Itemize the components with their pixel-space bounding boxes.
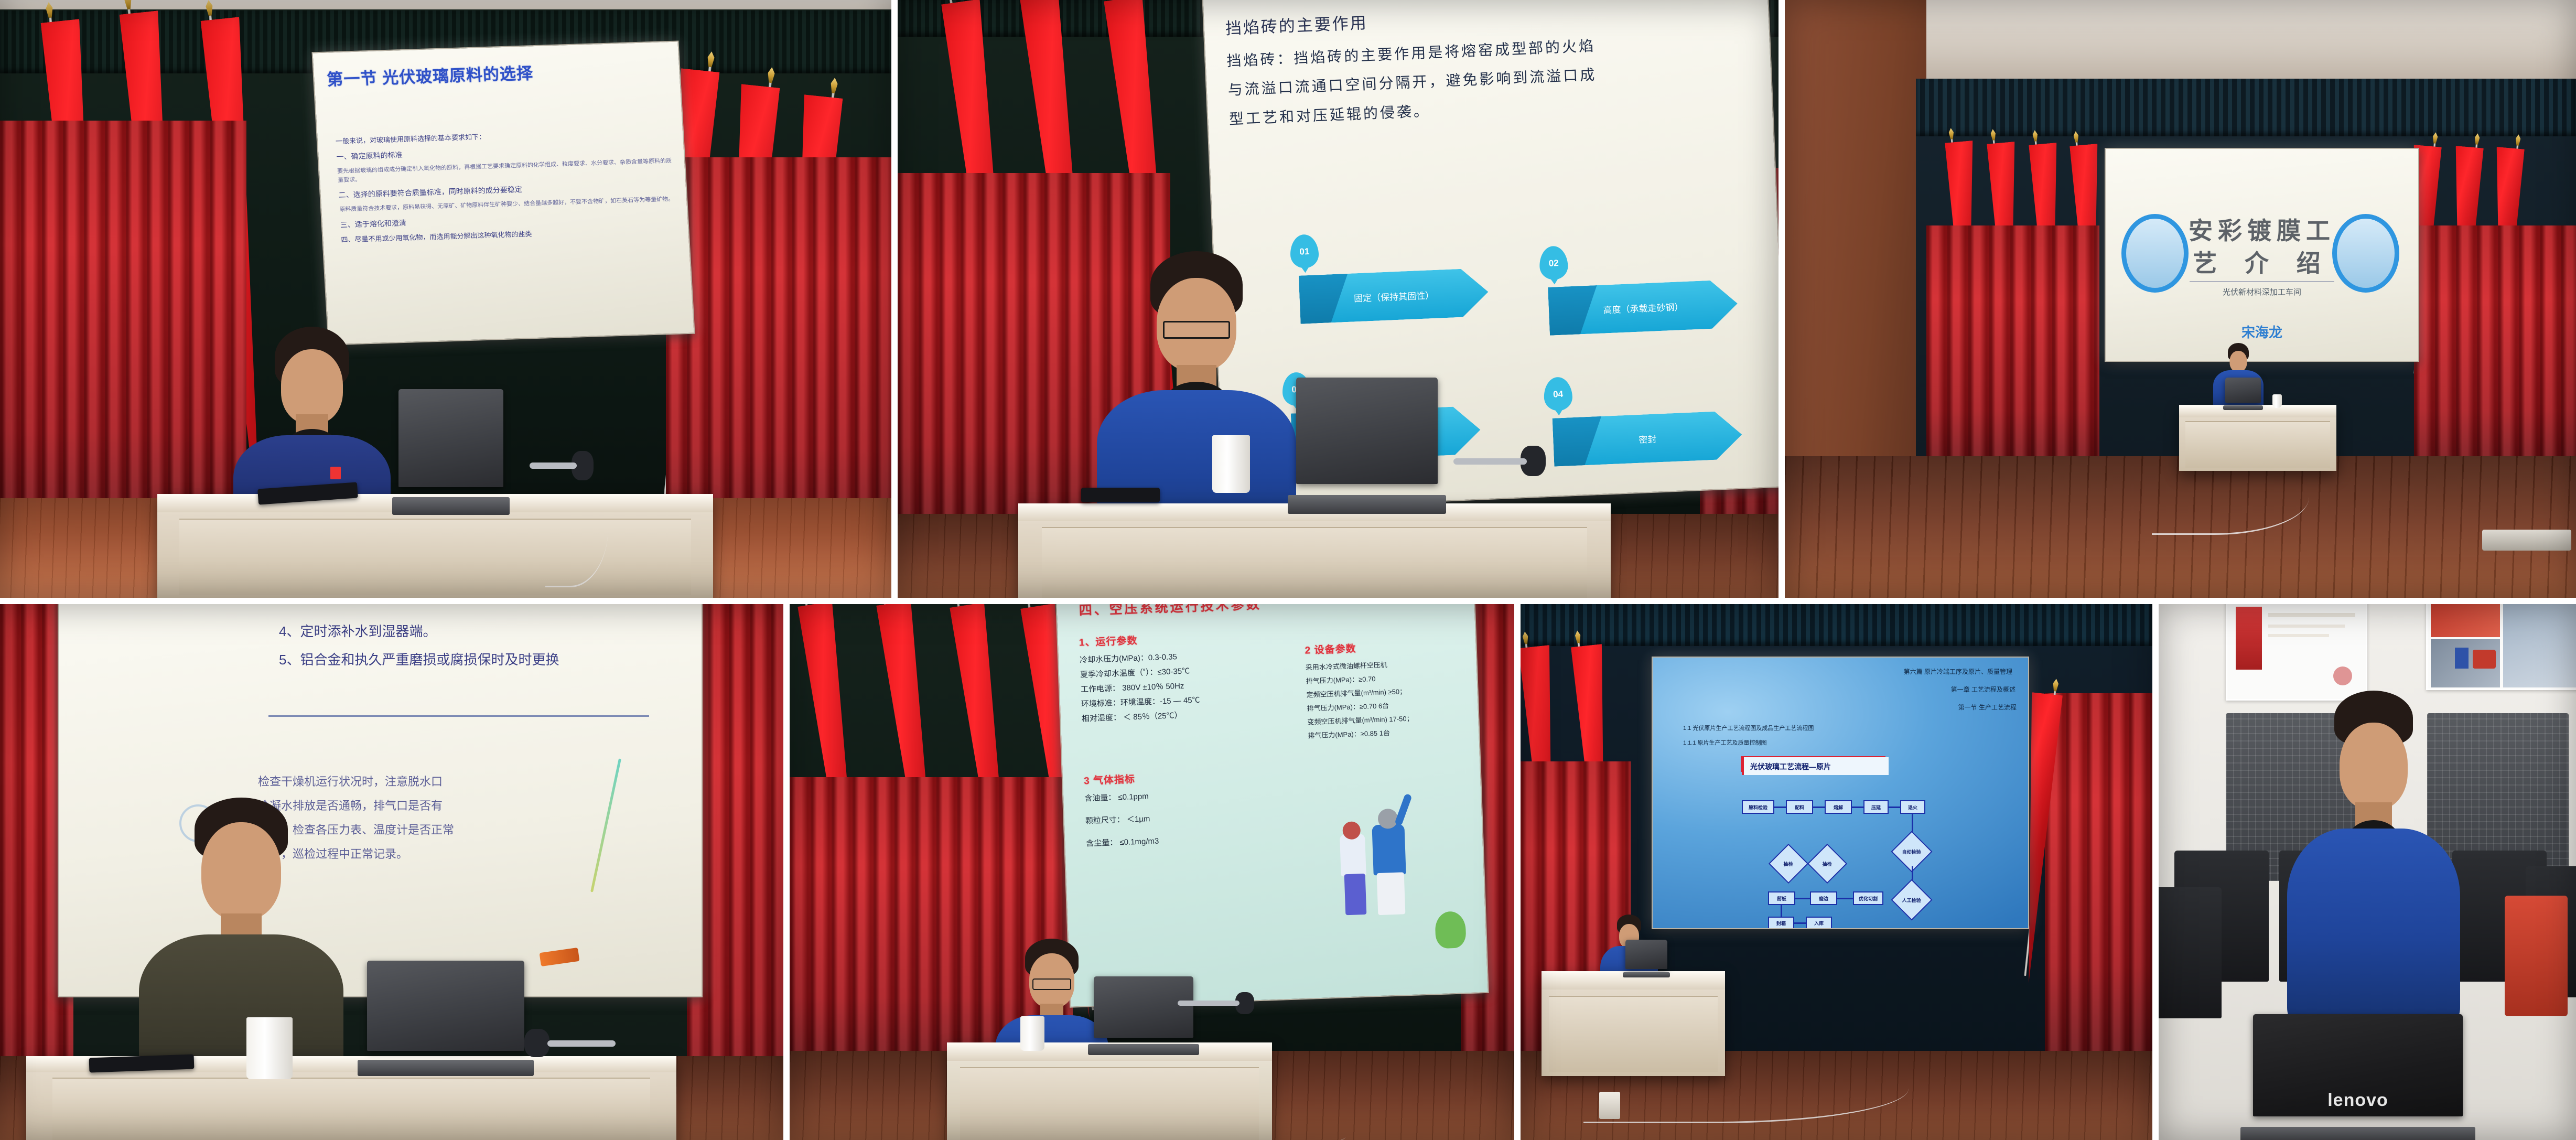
divider [2190,281,2334,282]
conference-chair [2159,887,2222,1018]
photo-panel-7[interactable]: lenovo [2159,604,2576,1140]
slide-title: 第一节 光伏玻璃原料的选择 [326,56,670,90]
desk [1018,503,1611,598]
laptop[interactable] [367,961,524,1076]
paper-cup [1020,1016,1044,1051]
flow-box: 掰板 [1768,891,1795,905]
paper-cup [1212,435,1250,493]
param-row: 含尘量： ≤0.1mg/m3 [1086,830,1306,849]
chevron-item: 固定（保持其固性） [1299,268,1490,324]
power-outlet [1599,1092,1620,1119]
laptop[interactable] [2225,378,2261,410]
power-strip [2482,530,2571,551]
flow-box: 入库 [1806,917,1832,929]
two-workers-cartoon-icon [1326,802,1435,926]
slide-header: 第六篇 原片冷端工序及原片、质量管理 [1653,667,2012,676]
slide-line: 5、铝合金和执久严重磨损或腐损保时及时更换 [279,649,670,670]
slide-title: 四、空压系统运行技术参数 [1079,604,1262,619]
slide-secondary-line: 检查干燥机运行状况时，注意脱水口 [258,773,639,791]
laptop[interactable] [1296,378,1438,514]
lenovo-brand-label: lenovo [2327,1090,2388,1111]
flow-title: 光伏玻璃工艺流程—原片 [1750,761,1831,772]
white-desk [947,1042,1272,1140]
flow-box: 退火 [1900,800,1925,814]
microphone [524,1029,619,1060]
slide-chapter: 第一章 工艺流程及概述 [1653,685,2015,694]
projection-screen: 四、空压系统运行技术参数 1、运行参数 冷却水压力(MPa)：0.3-0.35 … [1055,604,1489,1008]
flow-box: 磨边 [1810,891,1837,905]
slide-section: 第一节 生产工艺流程 [1653,703,2017,712]
photo-panel-2[interactable]: 挡焰砖的主要作用 挡焰砖：挡焰砖的主要作用是将熔窑成型部的火焰 与流溢口流通口空… [898,0,1779,598]
flow-arrow [1889,806,1900,808]
cable [1157,1128,1345,1140]
slide-subtitle: 光伏新材料深加工车间 [2106,286,2418,297]
flow-diamond: 人工检验 [1891,879,1932,920]
slide-title-line1: 安彩镀膜工 [2106,212,2418,246]
smartphone[interactable] [1081,488,1160,502]
chevron-badge-label: 01 [1299,246,1310,257]
red-chair [2505,896,2568,1016]
blue-work-jacket [2287,829,2460,1028]
photo-collage: 第一节 光伏玻璃原料的选择 一般来说，对玻璃使用原料选择的基本要求如下： 一、确… [0,0,2576,1140]
chevron-item: 高度（承载走砂钢） [1548,279,1739,336]
flow-box: 压延 [1863,800,1889,814]
slide-item-2: 1.1.1 原片生产工艺及质量控制图 [1683,738,1767,747]
param-row: 排气压力(MPa)：≥0.70 6台 [1307,697,1480,713]
glasses-icon [1032,978,1071,990]
glasses-icon [1163,321,1230,339]
slide-item-1: 1.1 光伏原片生产工艺流程图及成品生产工艺流程图 [1683,724,1814,732]
flow-box: 配料 [1786,800,1813,814]
flow-arrow [1794,922,1806,924]
col1-heading: 1、运行参数 [1079,627,1299,649]
flow-arrow [1795,898,1810,899]
col2-heading: 2 设备参数 [1305,637,1478,657]
photo-panel-3[interactable]: 安彩镀膜工 艺 介 绍 光伏新材料深加工车间 宋海龙 [1785,0,2576,598]
certificate-frame [2226,604,2367,701]
tree-icon [1435,911,1466,949]
microphone [530,451,603,482]
projection-screen: 安彩镀膜工 艺 介 绍 光伏新材料深加工车间 宋海龙 [2105,148,2419,362]
param-row: 定频空压机排气量(m³/min) ≥50； [1306,683,1479,700]
slide-title-line2: 艺 介 绍 [2106,244,2418,279]
chevron-badge-label: 04 [1553,389,1564,400]
laptop[interactable] [398,389,503,515]
flow-arrow [1774,806,1786,808]
photo-panel-5[interactable]: 四、空压系统运行技术参数 1、运行参数 冷却水压力(MPa)：0.3-0.35 … [790,604,1514,1140]
desk [2179,405,2336,471]
col3-heading: 3 气体指标 [1084,766,1305,788]
presenter [2287,704,2460,1029]
flow-box: 熔解 [1825,800,1852,814]
chevron-label: 密封 [1639,432,1657,445]
microphone [1453,446,1553,477]
chevron-item: 密封 [1553,411,1743,467]
flow-arrow [1837,898,1853,899]
slide-line: 4、定时添补水到湿器端。 [279,621,670,642]
flow-diamond: 抽检 [1769,844,1808,884]
flow-diamond: 抽检 [1807,844,1847,884]
laptop[interactable] [1625,940,1667,977]
chevron-badge-label: 02 [1548,258,1559,269]
paper-cup [2272,394,2282,408]
flow-box: 优化切割 [1853,891,1883,905]
chevron-badge-04: 04 [1543,377,1573,411]
photo-panel-4[interactable]: 4、定时添补水到湿器端。 5、铝合金和执久严重磨损或腐损保时及时更换 检查干燥机… [0,604,783,1140]
param-row: 排气压力(MPa)：≥0.70 [1306,670,1479,686]
desk [1542,971,1725,1076]
paper-cup [246,1017,293,1079]
flow-arrow [1781,905,1782,917]
factory-photo-collage-frame [2426,604,2576,690]
divider [268,715,649,717]
flow-box: 封箱 [1768,917,1794,929]
chevron-badge-02: 02 [1539,245,1569,280]
photo-panel-1[interactable]: 第一节 光伏玻璃原料的选择 一般来说，对玻璃使用原料选择的基本要求如下： 一、确… [0,0,891,598]
flow-arrow [1813,806,1825,808]
lenovo-laptop[interactable]: lenovo [2253,1014,2463,1140]
projection-screen: 第一节 光伏玻璃原料的选择 一般来说，对玻璃使用原料选择的基本要求如下： 一、确… [311,40,695,345]
chevron-label: 高度（承载走砂钢） [1603,299,1684,316]
param-row: 颗粒尺寸： ＜1µm [1085,808,1305,826]
param-row: 排气压力(MPa)：≥0.85 1台 [1308,724,1481,740]
slide-presenter-name: 宋海龙 [2106,322,2418,341]
presenter [131,809,351,1087]
flow-title-box: 光伏玻璃工艺流程—原片 [1742,757,1889,775]
param-row: 采用水冷式微油螺杆空压机 [1305,656,1478,672]
flow-box: 原料检验 [1742,800,1774,814]
projection-screen: 第六篇 原片冷端工序及原片、质量管理 第一章 工艺流程及概述 第一节 生产工艺流… [1652,657,2029,929]
microphone [1178,992,1256,1016]
param-row: 变频空压机排气量(m³/min) 17-50； [1307,711,1480,727]
photo-panel-6[interactable]: 第六篇 原片冷端工序及原片、质量管理 第一章 工艺流程及概述 第一节 生产工艺流… [1521,604,2152,1140]
chevron-label: 固定（保持其固性） [1354,288,1435,304]
party-emblem-badge [330,467,341,479]
flow-arrow [1852,806,1863,808]
param-row: 含油量： ≤0.1ppm [1084,785,1305,804]
